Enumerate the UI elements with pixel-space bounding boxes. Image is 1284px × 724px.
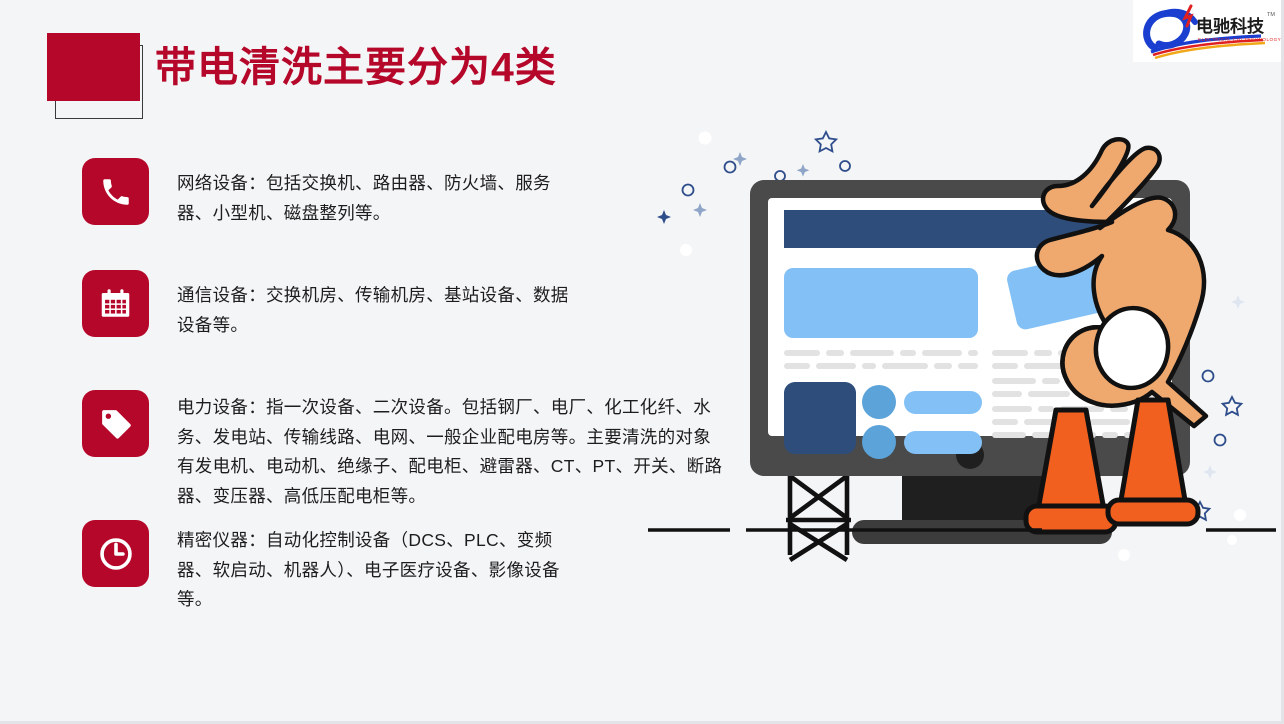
calendar-icon [99,287,132,320]
calendar-icon-tile [82,270,149,337]
list-item-text: 通信设备：交换机房、传输机房、基站设备、数据设备等。 [177,270,577,340]
list-item: 网络设备：包括交换机、路由器、防火墙、服务器、小型机、磁盘整列等。 [82,158,577,228]
title-red-square [47,33,140,101]
mockup-hero-block [784,268,978,338]
list-item-text: 精密仪器：自动化控制设备（DCS、PLC、变频器、软启动、机器人）、电子医疗设备… [177,520,577,615]
page-title-block: 带电清洗主要分为4类 [47,33,647,128]
logo-graphic: 电驰科技 ELECTRICAL CHI TECHNOLOGY TM [1133,0,1281,62]
logo-english-text: ELECTRICAL CHI TECHNOLOGY [1198,37,1281,42]
list-item: 通信设备：交换机房、传输机房、基站设备、数据设备等。 [82,270,577,340]
slide-canvas: 电驰科技 ELECTRICAL CHI TECHNOLOGY TM 带电清洗主要… [0,0,1284,724]
mockup-avatar [862,425,896,459]
logo-trademark-icon: TM [1267,12,1275,18]
list-item: 精密仪器：自动化控制设备（DCS、PLC、变频器、软启动、机器人）、电子医疗设备… [82,520,577,615]
decorative-sparkle-small-right [1191,295,1245,479]
page-title: 带电清洗主要分为4类 [155,34,557,100]
tag-icon-tile [82,390,149,457]
tag-icon [99,407,133,441]
phone-icon-tile [82,158,149,225]
monitor-hand-cleaning-illustration [640,110,1284,590]
illustration-graphic [640,110,1284,590]
decorative-sparkles-right [1191,371,1242,520]
mockup-avatar [862,385,896,419]
phone-icon [99,175,133,209]
monitor-neck [902,476,1042,522]
list-item: 电力设备：指一次设备、二次设备。包括钢厂、电厂、化工化纤、水务、发电站、传输线路… [82,390,725,511]
clock-icon-tile [82,520,149,587]
list-item-text: 网络设备：包括交换机、路由器、防火墙、服务器、小型机、磁盘整列等。 [177,158,577,228]
logo-chinese-text: 电驰科技 [1196,16,1265,37]
mockup-thumb-block [784,382,856,454]
clock-icon [98,536,134,572]
mockup-pill [904,391,982,414]
mockup-pill [904,431,982,454]
company-logo: 电驰科技 ELECTRICAL CHI TECHNOLOGY TM [1133,0,1281,62]
